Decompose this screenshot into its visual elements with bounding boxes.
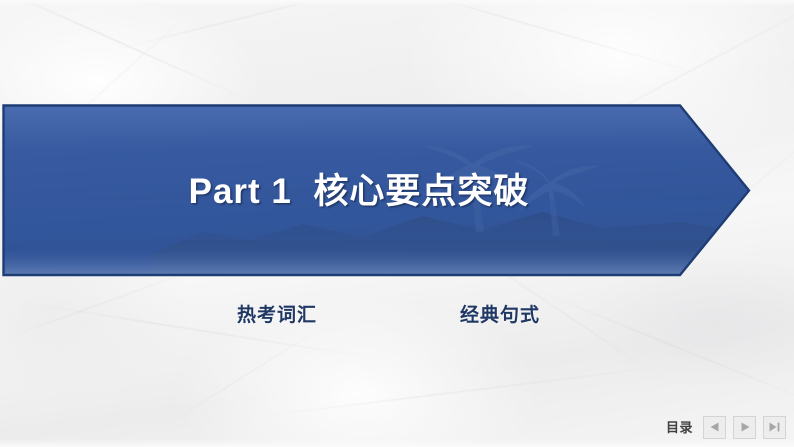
marble-vein [114,0,367,51]
subsection-label-vocabulary[interactable]: 热考词汇 [237,300,317,327]
subsection-label-sentence-patterns[interactable]: 经典句式 [460,300,540,327]
marble-vein [22,302,378,360]
marble-vein [165,319,335,426]
table-of-contents-button[interactable]: 目录 [666,421,693,434]
marble-vein [532,288,794,413]
footer-navigation: 目录 [666,415,786,439]
marble-vein [0,0,257,104]
right-triangle-bar-icon [768,421,781,433]
section-banner: Part 1 核心要点突破 [2,104,752,277]
banner-arrow-shape [2,104,752,277]
left-triangle-icon [709,421,721,433]
last-slide-button[interactable] [763,416,786,439]
previous-slide-button[interactable] [703,416,726,439]
presentation-slide: Part 1 核心要点突破 热考词汇 经典句式 目录 [0,0,794,447]
marble-vein [261,364,678,416]
marble-vein [386,0,713,78]
right-triangle-icon [739,421,751,433]
next-slide-button[interactable] [733,416,756,439]
